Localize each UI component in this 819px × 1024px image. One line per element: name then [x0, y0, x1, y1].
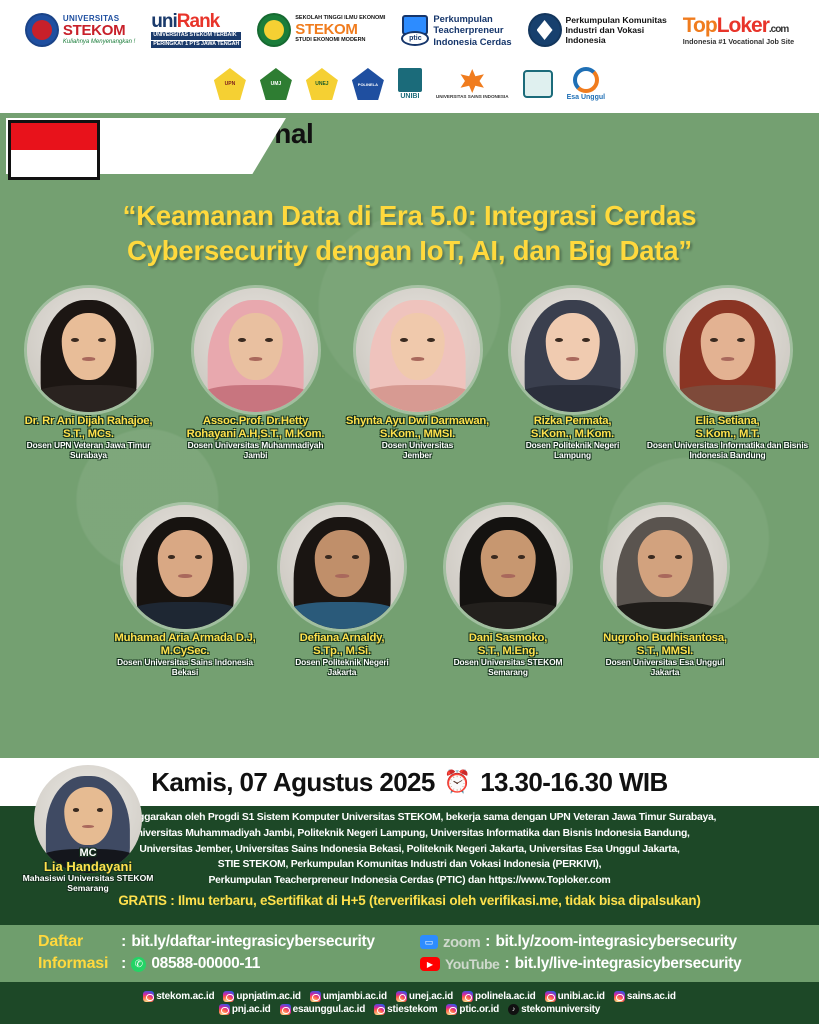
stekom-tagline: Kuliahnya Menyenangkan !: [63, 39, 135, 45]
webinar-ribbon: Webinar Nasional: [0, 118, 819, 180]
speaker-card: Defiana Arnaldy, S.Tp., M.Si.Dosen Polit…: [262, 505, 422, 678]
logo-unirank: uniRank UNIVERSITAS STEKOM TERBAIK PERIN…: [151, 12, 241, 48]
logo-ptic: ptic Perkumpulan Teacherpreneur Indonesi…: [401, 13, 511, 46]
youtube-row[interactable]: ▶ YouTube : bit.ly/live-integrasicyberse…: [420, 953, 741, 975]
speaker-card: Rizka Permata, S.Kom., M.Kom.Dosen Polit…: [490, 288, 655, 461]
footer-social-item[interactable]: polinela.ac.id: [462, 991, 536, 1002]
logo-universitas-muhammadiyah-jambi: UMJ: [260, 68, 292, 100]
informasi-colon: :: [121, 955, 126, 973]
speaker-photo: [123, 505, 247, 629]
speaker-affiliation: Dosen Universitas Informatika dan Bisnis…: [640, 441, 815, 460]
youtube-colon: :: [504, 955, 509, 973]
speaker-name: Rizka Permata, S.Kom., M.Kom.: [490, 415, 655, 440]
footer-social-item[interactable]: stekom.ac.id: [143, 991, 214, 1002]
footer-social-item[interactable]: unej.ac.id: [396, 991, 453, 1002]
footer-social-handle: sains.ac.id: [627, 991, 676, 1002]
registration-links-bar: Daftar : bit.ly/daftar-integrasicybersec…: [0, 925, 819, 982]
logo-politeknik-negeri-jakarta: [523, 70, 553, 98]
instagram-icon: [396, 991, 407, 1002]
speaker-name: Shynta Ayu Dwi Darmawan, S.Kom., MMSI.: [330, 415, 505, 440]
toploker-wordmark: TopLoker.com: [683, 15, 794, 36]
webinar-poster: UNIVERSITAS STEKOM Kuliahnya Menyenangka…: [0, 0, 819, 1024]
toploker-tagline: Indonesia #1 Vocational Job Site: [683, 38, 794, 45]
stekom-line2: STEKOM: [63, 23, 135, 39]
logo-toploker: TopLoker.com Indonesia #1 Vocational Job…: [683, 15, 794, 45]
instagram-icon: [219, 1004, 230, 1015]
ptic-mark-icon: ptic: [401, 15, 429, 46]
unibi-mark-icon: [398, 68, 422, 92]
umj-seal-icon: UMJ: [260, 68, 292, 100]
esa-unggul-mark-icon: [573, 67, 599, 93]
mc-role: MC: [8, 847, 168, 859]
speaker-affiliation: Dosen Universitas Sains Indonesia Bekasi: [92, 658, 278, 677]
footer-social-item[interactable]: ptic.or.id: [446, 1004, 499, 1015]
footer-social-item[interactable]: pnj.ac.id: [219, 1004, 271, 1015]
instagram-icon: [446, 1004, 457, 1015]
speaker-photo: [27, 288, 151, 412]
speaker-name: Defiana Arnaldy, S.Tp., M.Si.: [262, 632, 422, 657]
speaker-card: Dr. Rr Ani Dijah Rahajoe, S.T., MCs.Dose…: [6, 288, 171, 461]
speaker-photo: [194, 288, 318, 412]
footer-social-handle: esaunggul.ac.id: [293, 1004, 366, 1015]
instagram-icon: [374, 1004, 385, 1015]
speaker-affiliation: Dosen Universitas Esa Unggul Jakarta: [570, 658, 760, 677]
footer-social-handle: umjambi.ac.id: [323, 991, 387, 1002]
speaker-name: Dr. Rr Ani Dijah Rahajoe, S.T., MCs.: [6, 415, 171, 440]
speakers-row-1: Dr. Rr Ani Dijah Rahajoe, S.T., MCs.Dose…: [0, 288, 819, 500]
links-left-column: Daftar : bit.ly/daftar-integrasicybersec…: [38, 931, 375, 975]
instagram-icon: [223, 991, 234, 1002]
ptic-label: Perkumpulan Teacherpreneur Indonesia Cer…: [433, 13, 511, 46]
esa-unggul-caption: Esa Unggul: [567, 94, 606, 101]
stekom-seal-icon: [25, 13, 59, 47]
logo-upn-veteran-jatim: UPN: [214, 68, 246, 100]
instagram-icon: [310, 991, 321, 1002]
footer-social-item[interactable]: unibi.ac.id: [545, 991, 605, 1002]
informasi-label: Informasi: [38, 955, 116, 973]
footer-row-1: stekom.ac.idupnjatim.ac.idumjambi.ac.idu…: [143, 991, 676, 1002]
zoom-colon: :: [485, 933, 490, 951]
speaker-card: Shynta Ayu Dwi Darmawan, S.Kom., MMSI.Do…: [330, 288, 505, 461]
stie-line1: STEKOM: [295, 22, 385, 38]
speaker-affiliation: Dosen Universitas Jember: [330, 441, 505, 460]
speaker-affiliation: Dosen UPN Veteran Jawa Timur Surabaya: [6, 441, 171, 460]
zoom-label: zoom: [443, 934, 480, 951]
speaker-name: Muhamad Aria Armada D.J, M.CySec.: [92, 632, 278, 657]
speaker-card: Elia Setiana, S.Kom., M.T.Dosen Universi…: [640, 288, 815, 461]
daftar-label: Daftar: [38, 933, 116, 951]
perkivi-label: Perkumpulan Komunitas Industri dan Vokas…: [566, 15, 667, 46]
logo-esa-unggul: Esa Unggul: [567, 67, 606, 101]
social-footer: stekom.ac.idupnjatim.ac.idumjambi.ac.idu…: [0, 982, 819, 1024]
speaker-affiliation: Dosen Universitas Muhammadiyah Jambi: [168, 441, 343, 460]
instagram-icon: [545, 991, 556, 1002]
indonesia-flag-icon: [8, 120, 100, 180]
instagram-icon: [280, 1004, 291, 1015]
footer-social-item[interactable]: esaunggul.ac.id: [280, 1004, 366, 1015]
footer-social-item[interactable]: sains.ac.id: [614, 991, 676, 1002]
unej-seal-icon: UNEJ: [306, 68, 338, 100]
daftar-row[interactable]: Daftar : bit.ly/daftar-integrasicybersec…: [38, 931, 375, 953]
unibi-caption: UNIBI: [400, 93, 419, 100]
speaker-name: Assoc.Prof. Dr.Hetty Rohayani A.H,S.T., …: [168, 415, 343, 440]
gratis-note: GRATIS : Ilmu terbaru, eSertifikat di H+…: [0, 893, 819, 908]
logo-universitas-stekom: UNIVERSITAS STEKOM Kuliahnya Menyenangka…: [25, 13, 135, 47]
whatsapp-icon[interactable]: ✆: [131, 957, 146, 972]
speakers-row-2: Muhamad Aria Armada D.J, M.CySec.Dosen U…: [0, 505, 819, 720]
instagram-icon: [462, 991, 473, 1002]
speaker-photo: [280, 505, 404, 629]
speaker-photo: [603, 505, 727, 629]
footer-social-item[interactable]: umjambi.ac.id: [310, 991, 387, 1002]
sponsor-logo-header: UNIVERSITAS STEKOM Kuliahnya Menyenangka…: [0, 0, 819, 113]
daftar-url[interactable]: bit.ly/daftar-integrasicybersecurity: [131, 933, 374, 951]
speaker-card: Assoc.Prof. Dr.Hetty Rohayani A.H,S.T., …: [168, 288, 343, 461]
speaker-affiliation: Dosen Politeknik Negeri Lampung: [490, 441, 655, 460]
logo-unibi: UNIBI: [398, 68, 422, 100]
informasi-phone[interactable]: 08588-00000-11: [151, 955, 260, 973]
webinar-title: “Keamanan Data di Era 5.0: Integrasi Cer…: [30, 198, 789, 268]
unirank-wordmark: uniRank: [151, 12, 241, 31]
flag-red-band: [11, 123, 97, 150]
polinela-seal-icon: POLINELA: [352, 68, 384, 100]
speaker-affiliation: Dosen Politeknik Negeri Jakarta: [262, 658, 422, 677]
unirank-bar-2: PERINGKAT 1 PTS JAWA TENGAH: [151, 41, 241, 48]
youtube-icon: ▶: [420, 957, 440, 971]
footer-social-item[interactable]: ♪stekomuniversity: [508, 1004, 600, 1015]
schedule-date: Kamis, 07 Agustus 2025: [151, 767, 435, 798]
footer-social-handle: ptic.or.id: [459, 1004, 499, 1015]
speaker-photo: [511, 288, 635, 412]
zoom-icon: ▭: [420, 935, 438, 949]
logo-row-primary: UNIVERSITAS STEKOM Kuliahnya Menyenangka…: [25, 4, 794, 56]
footer-social-handle: stekom.ac.id: [156, 991, 214, 1002]
speaker-photo: [446, 505, 570, 629]
speaker-name: Nugroho Budhisantosa, S.T., MMSI.: [570, 632, 760, 657]
speaker-photo: [356, 288, 480, 412]
alarm-clock-icon: ⏰: [444, 771, 471, 793]
logo-universitas-sains-indonesia: UNIVERSITAS SAINS INDONESIA: [436, 69, 509, 99]
youtube-label: YouTube: [445, 956, 499, 972]
instagram-icon: [143, 991, 154, 1002]
logo-perkivi: Perkumpulan Komunitas Industri dan Vokas…: [528, 13, 667, 47]
speaker-photo: [666, 288, 790, 412]
logo-politeknik-negeri-lampung: POLINELA: [352, 68, 384, 100]
footer-social-handle: unej.ac.id: [409, 991, 453, 1002]
footer-social-item[interactable]: upnjatim.ac.id: [223, 991, 300, 1002]
footer-social-handle: upnjatim.ac.id: [236, 991, 300, 1002]
tiktok-icon: ♪: [508, 1004, 519, 1015]
title-line-1: “Keamanan Data di Era 5.0: Integrasi Cer…: [30, 198, 789, 233]
speaker-card: Muhamad Aria Armada D.J, M.CySec.Dosen U…: [92, 505, 278, 678]
usi-caption: UNIVERSITAS SAINS INDONESIA: [436, 94, 509, 99]
mc-affiliation: Mahasiswi Universitas STEKOM Semarang: [8, 874, 168, 894]
zoom-row[interactable]: ▭ zoom : bit.ly/zoom-integrasicybersecur…: [420, 931, 741, 953]
footer-social-handle: pnj.ac.id: [232, 1004, 271, 1015]
perkivi-seal-icon: [528, 13, 562, 47]
speaker-name: Elia Setiana, S.Kom., M.T.: [640, 415, 815, 440]
title-line-2: Cybersecurity dengan IoT, AI, dan Big Da…: [30, 233, 789, 268]
upn-seal-icon: UPN: [214, 68, 246, 100]
stie-stekom-seal-icon: [257, 13, 291, 47]
flag-white-band: [11, 150, 97, 177]
footer-social-handle: stiestekom: [387, 1004, 437, 1015]
unirank-bar-1: UNIVERSITAS STEKOM TERBAIK: [151, 32, 241, 39]
logo-stie-stekom: SEKOLAH TINGGI ILMU EKONOMI STEKOM STUDI…: [257, 13, 385, 47]
usi-mark-icon: [459, 69, 485, 93]
footer-social-handle: polinela.ac.id: [475, 991, 536, 1002]
stie-line2: STUDI EKONOMI MODERN: [295, 38, 385, 44]
footer-social-handle: stekomuniversity: [521, 1004, 600, 1015]
informasi-row[interactable]: Informasi : ✆ 08588-00000-11: [38, 953, 375, 975]
daftar-colon: :: [121, 933, 126, 951]
instagram-icon: [614, 991, 625, 1002]
schedule-time: 13.30-16.30 WIB: [480, 767, 668, 798]
footer-row-2: pnj.ac.idesaunggul.ac.idstiestekomptic.o…: [219, 1004, 600, 1015]
logo-row-partners: UPN UMJ UNEJ POLINELA UNIBI UNIVERSITAS …: [214, 60, 605, 108]
mc-block: MC Lia Handayani Mahasiswi Universitas S…: [8, 765, 168, 894]
links-right-column: ▭ zoom : bit.ly/zoom-integrasicybersecur…: [420, 931, 741, 975]
footer-social-item[interactable]: stiestekom: [374, 1004, 437, 1015]
speaker-card: Nugroho Budhisantosa, S.T., MMSI.Dosen U…: [570, 505, 760, 678]
pnj-mark-icon: [523, 70, 553, 98]
mc-name: Lia Handayani: [8, 859, 168, 874]
logo-universitas-jember: UNEJ: [306, 68, 338, 100]
footer-social-handle: unibi.ac.id: [558, 991, 605, 1002]
schedule-inner: Kamis, 07 Agustus 2025 ⏰ 13.30-16.30 WIB: [151, 767, 668, 798]
zoom-url[interactable]: bit.ly/zoom-integrasicybersecurity: [496, 933, 737, 951]
youtube-url[interactable]: bit.ly/live-integrasicybersecurity: [515, 955, 742, 973]
